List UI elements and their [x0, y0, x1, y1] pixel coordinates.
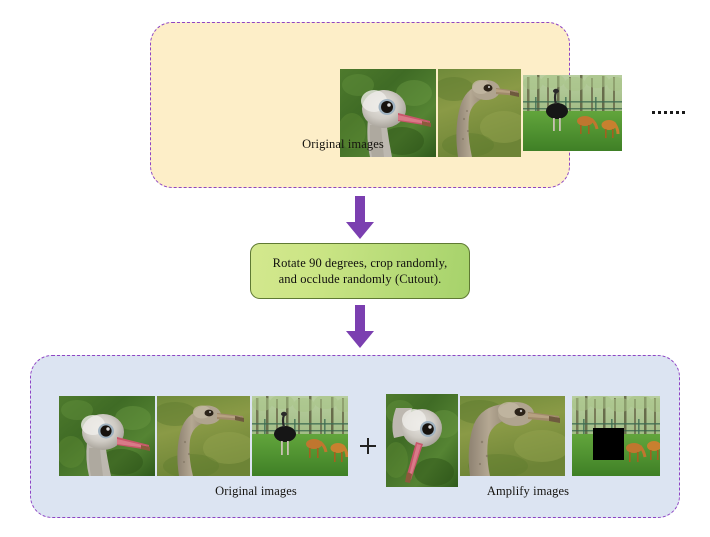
bottom-panel-amplified-caption: Amplify images [487, 484, 569, 499]
photo-ostrich-field-antelopes [523, 75, 622, 151]
photo-ostrich-neck-profile-original [157, 396, 250, 476]
original-images-panel [150, 22, 570, 188]
photo-ostrich-neck-cropped [460, 396, 565, 476]
photo-ostrich-head-closeup-original [59, 396, 155, 476]
arrow-process-to-bottom-icon [345, 305, 375, 349]
photo-ostrich-field-antelopes-original [252, 396, 348, 476]
plus-operator-icon [360, 438, 376, 454]
figure-canvas: Original images Rotate 90 degrees, crop … [0, 0, 710, 537]
arrow-top-to-process-icon [345, 196, 375, 240]
augmentation-process-text: Rotate 90 degrees, crop randomly, and oc… [273, 255, 448, 287]
ellipsis-more-images [652, 111, 685, 114]
augmentation-process-box: Rotate 90 degrees, crop randomly, and oc… [250, 243, 470, 299]
photo-ostrich-field-cutout [572, 396, 660, 476]
photo-ostrich-neck-profile [438, 69, 521, 157]
photo-ostrich-head-rotated [386, 394, 458, 487]
top-panel-caption: Original images [302, 137, 384, 152]
bottom-panel-original-caption: Original images [215, 484, 297, 499]
